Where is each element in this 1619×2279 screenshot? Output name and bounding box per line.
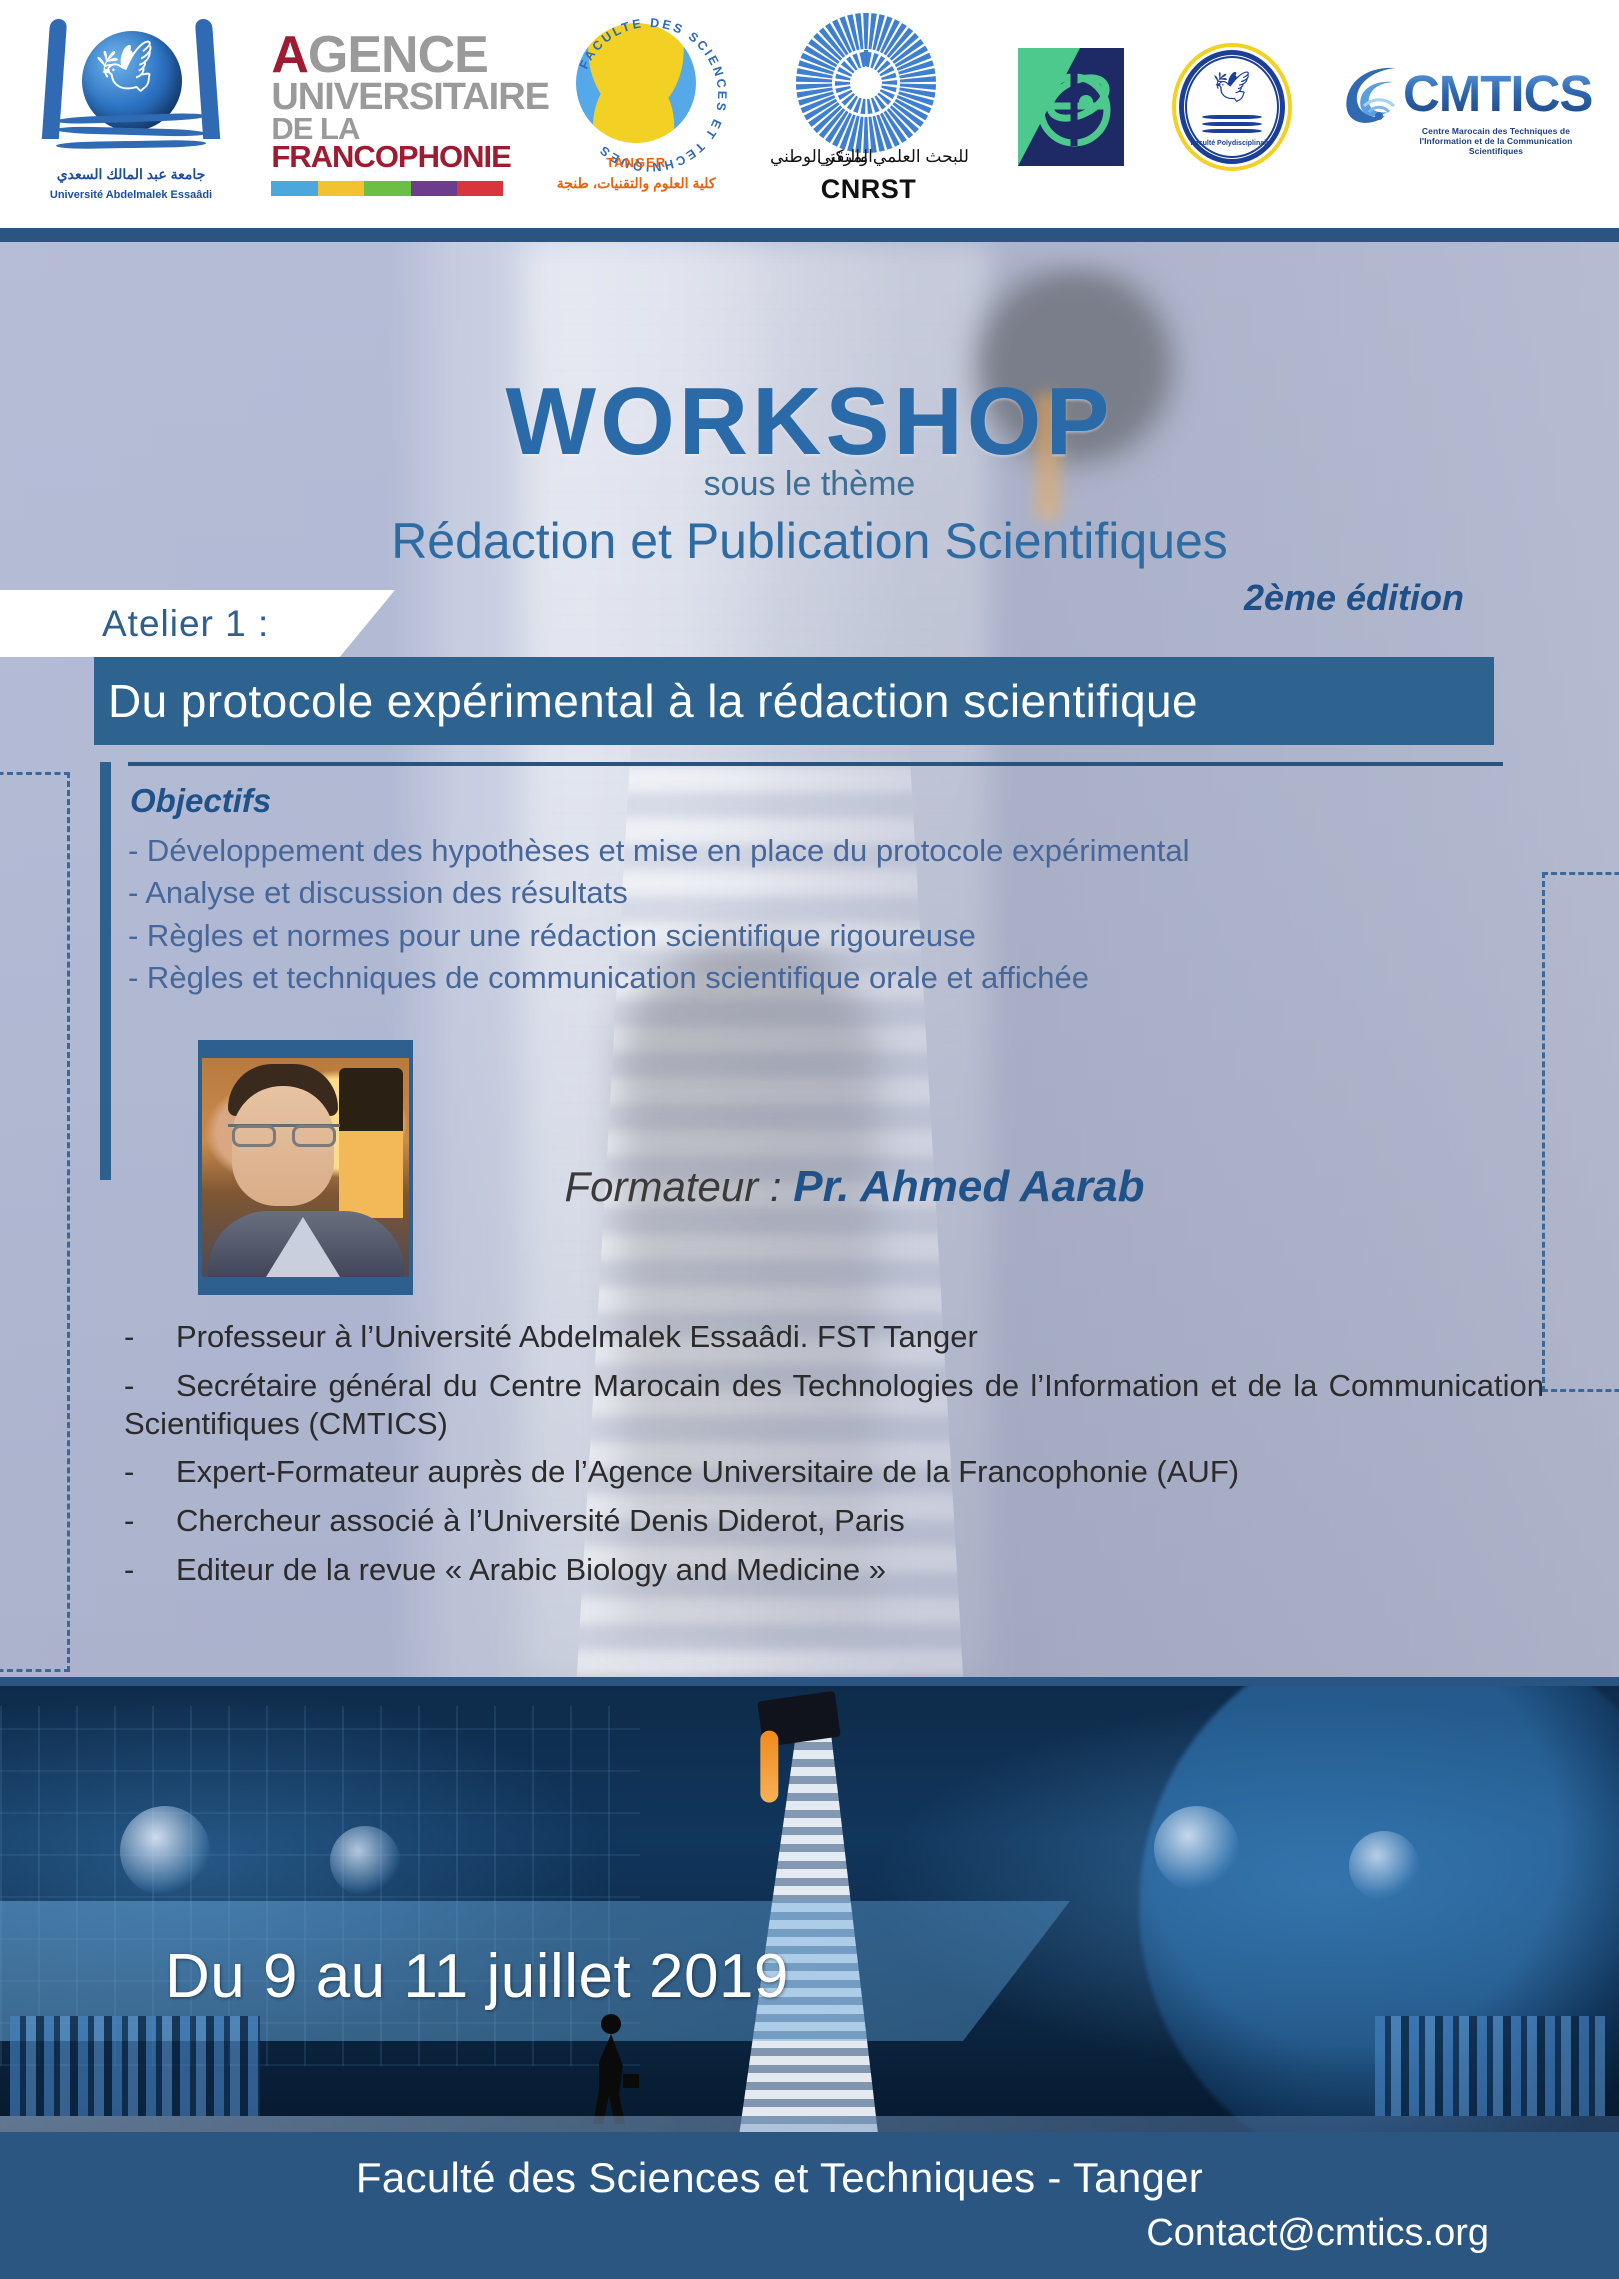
bio-dash: - [124, 1318, 176, 1356]
auf-line-3: DE LA FRANCOPHONIE [271, 115, 506, 172]
logo-faculte-polydisciplinaire-seal: 🕊 Faculté Polydisciplinaire [1172, 43, 1292, 171]
decorative-dashed-box-right [1542, 872, 1619, 1392]
venue-name: Faculté des Sciences et Techniques - Tan… [0, 2154, 1619, 2202]
bio-dash: - [124, 1367, 176, 1405]
glasses-icon [228, 1124, 340, 1146]
logo-green-square [1018, 48, 1124, 166]
atelier-title: Du protocole expérimental à la rédaction… [94, 674, 1198, 728]
svg-text:FACULTE DES SCIENCES ET TECHNI: FACULTE DES SCIENCES ET TECHNIQUES [576, 16, 728, 174]
decorative-orb [1154, 1806, 1239, 1891]
sunburst-icon [786, 11, 946, 161]
footer-bar: Faculté des Sciences et Techniques - Tan… [0, 2132, 1619, 2279]
bio-text: Professeur à l’Université Abdelmalek Ess… [176, 1319, 978, 1354]
auf-word-francophonie: FRANCOPHONIE [271, 139, 510, 174]
fst-circular-text-svg: FACULTE DES SCIENCES ET TECHNIQUES [568, 15, 733, 175]
logo-caption-french: Université Abdelmalek Essaâdi [38, 189, 224, 201]
logo-caption-arabic: جامعة عبد المالك السعدي [38, 166, 224, 183]
decorative-dashed-box-left [0, 772, 70, 1672]
trainer-name: Pr. Ahmed Aarab [793, 1162, 1144, 1211]
cmtics-subtitle: Centre Marocain des Techniques de l'Info… [1403, 126, 1589, 156]
abstract-circle-icon [1028, 54, 1114, 158]
decorative-orb [1349, 1831, 1419, 1901]
cnrst-label: CNRST [766, 174, 971, 205]
bio-item: -Secrétaire général du Centre Marocain d… [124, 1367, 1544, 1443]
wifi-swirl-icon [1339, 60, 1403, 131]
atelier-label: Atelier 1 : [0, 603, 269, 645]
objectifs-top-rule [128, 762, 1503, 766]
page-title: WORKSHOP [0, 367, 1619, 477]
auf-line-2: UNIVERSITAIRE [271, 80, 506, 115]
bio-dash: - [124, 1502, 176, 1540]
list-item: - Règles et normes pour une rédaction sc… [128, 915, 1498, 957]
sponsor-logo-strip: 🕊 جامعة عبد المالك السعدي Université Abd… [0, 0, 1619, 228]
logo-cnrst: المركز الوطني للبحث العلمي والتقني CNRST [766, 7, 971, 207]
dove-icon: 🕊 [1172, 73, 1292, 103]
objectifs-list: - Développement des hypothèses et mise e… [128, 830, 1498, 1000]
trainer-bio-list: -Professeur à l’Université Abdelmalek Es… [124, 1318, 1544, 1600]
bio-dash: - [124, 1551, 176, 1589]
workshop-theme: Rédaction et Publication Scientifiques [0, 512, 1619, 570]
dove-icon: 🕊 [94, 41, 164, 101]
waves-icon [1202, 115, 1262, 139]
bio-item: -Editeur de la revue « Arabic Biology an… [124, 1551, 1544, 1589]
fst-city-label: TANGER [554, 155, 719, 170]
auf-color-bars [271, 181, 503, 196]
atelier-title-bar: Du protocole expérimental à la rédaction… [94, 657, 1494, 745]
atelier-label-flag: Atelier 1 : [0, 590, 395, 657]
logo-faculte-sciences-techniques-tanger: FACULTE DES SCIENCES ET TECHNIQUES TANGE… [554, 7, 719, 207]
seal-caption: Faculté Polydisciplinaire [1172, 140, 1292, 147]
trainer-line: Formateur : Pr. Ahmed Aarab [0, 1162, 1619, 1212]
logo-universite-abdelmalek-essaadi: 🕊 جامعة عبد المالك السعدي Université Abd… [38, 9, 224, 205]
banner-city-left [10, 2016, 260, 2116]
banner-city-right [1375, 2016, 1605, 2116]
bio-text: Expert-Formateur auprès de l’Agence Univ… [176, 1454, 1239, 1489]
decorative-orb [330, 1826, 400, 1896]
date-banner: Du 9 au 11 juillet 2019 [0, 1677, 1619, 2132]
auf-line-1: AGENCE [271, 32, 506, 80]
bio-text: Secrétaire général du Centre Marocain de… [124, 1368, 1544, 1441]
trainer-label: Formateur : [564, 1163, 793, 1210]
bio-item: -Chercheur associé à l’Université Denis … [124, 1502, 1544, 1540]
objectifs-left-rule [100, 762, 111, 1180]
waves-icon [56, 115, 206, 157]
contact-email[interactable]: Contact@cmtics.org [1146, 2212, 1489, 2255]
subtitle-prefix: sous le thème [0, 465, 1619, 504]
logo-agence-universitaire-francophonie: AGENCE UNIVERSITAIRE DE LA FRANCOPHONIE [271, 22, 506, 192]
person-silhouette-icon [585, 2012, 641, 2132]
list-item: - Analyse et discussion des résultats [128, 872, 1498, 914]
bio-text: Editeur de la revue « Arabic Biology and… [176, 1552, 886, 1587]
fst-ring-text: FACULTE DES SCIENCES ET TECHNIQUES [568, 15, 704, 151]
cnrst-arabic-right: للبحث العلمي والتقني [817, 147, 969, 167]
workshop-poster: 🕊 جامعة عبد المالك السعدي Université Abd… [0, 0, 1619, 2279]
bio-item: -Expert-Formateur auprès de l’Agence Uni… [124, 1453, 1544, 1491]
banner-floor-line [0, 2116, 1619, 2132]
decorative-orb [120, 1806, 210, 1896]
fst-caption-arabic: كلية العلوم والتقنيات، طنجة [554, 175, 719, 192]
list-item: - Développement des hypothèses et mise e… [128, 830, 1498, 872]
bio-item: -Professeur à l’Université Abdelmalek Es… [124, 1318, 1544, 1356]
objectifs-heading: Objectifs [130, 782, 271, 820]
cmtics-wordmark: CMTICS [1403, 64, 1592, 123]
logo-cmtics: CMTICS Centre Marocain des Techniques de… [1339, 52, 1589, 162]
list-item: - Règles et techniques de communication … [128, 957, 1498, 999]
bio-dash: - [124, 1453, 176, 1491]
header-divider [0, 228, 1619, 242]
bio-text: Chercheur associé à l’Université Denis D… [176, 1503, 905, 1538]
event-date: Du 9 au 11 juillet 2019 [165, 1941, 789, 2012]
